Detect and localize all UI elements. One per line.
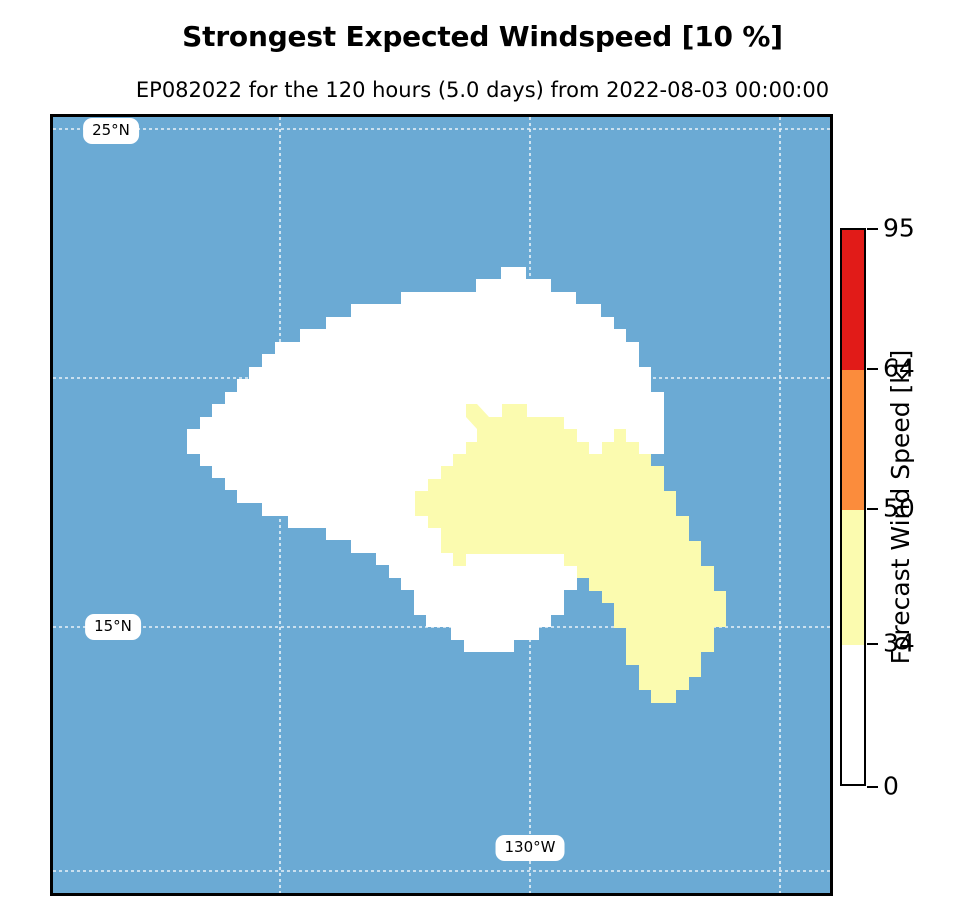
page-subtitle: EP082022 for the 120 hours (5.0 days) fr… [0, 77, 965, 103]
gridline-label-lon-130w: 130°W [496, 835, 565, 861]
colorbar-tick-0 [867, 786, 878, 788]
map-panel[interactable]: 25°N 15°N 130°W [50, 114, 833, 896]
colorbar-tick-64 [867, 368, 878, 370]
colorbar-tick-34 [867, 643, 878, 645]
colorbar-tick-50 [867, 508, 878, 510]
windspeed-contour-svg [53, 117, 830, 893]
colorbar-segment-64-95 [842, 230, 864, 370]
colorbar-segment-0-34 [842, 645, 864, 786]
gridline-label-lat-25n: 25°N [83, 118, 139, 144]
map-canvas: 25°N 15°N 130°W [53, 117, 830, 893]
gridline-label-lat-15n: 15°N [85, 614, 141, 640]
page-title: Strongest Expected Windspeed [10 %] [0, 20, 965, 54]
colorbar-axis-label: Forecast Wind Speed [kt] [886, 228, 916, 786]
colorbar-gradient-bar[interactable] [840, 228, 866, 786]
colorbar-segment-34-50 [842, 510, 864, 645]
colorbar-segment-50-64 [842, 370, 864, 510]
colorbar-tick-95 [867, 228, 878, 230]
